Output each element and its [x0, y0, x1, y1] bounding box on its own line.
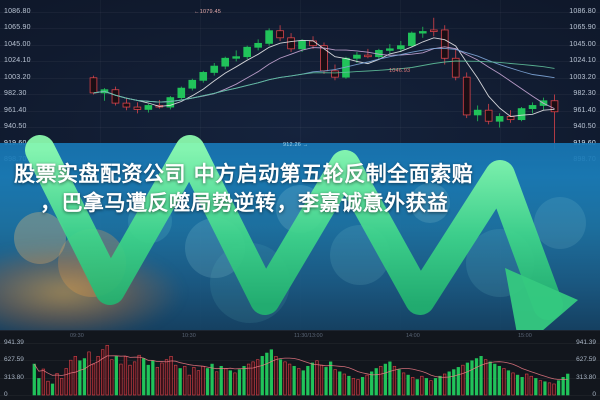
volume-bar: [566, 374, 569, 395]
volume-bar: [530, 376, 533, 395]
volume-bar: [211, 364, 214, 395]
volume-bar: [88, 352, 91, 395]
volume-bar: [247, 364, 250, 395]
volume-bar: [338, 372, 341, 395]
volume-bar: [110, 360, 113, 395]
volume-bar: [398, 370, 401, 395]
volume-bar: [316, 361, 319, 395]
volume-bar: [539, 381, 542, 395]
volume-bar: [229, 371, 232, 395]
volume-bar: [407, 375, 410, 395]
volume-bar: [288, 364, 291, 395]
volume-bar: [411, 377, 414, 395]
volume-bar: [434, 378, 437, 395]
volume-bar: [174, 365, 177, 395]
volume-bar: [352, 378, 355, 395]
volume-bar: [202, 366, 205, 395]
volume-bar: [101, 350, 104, 395]
headline-line-2: ，巴拿马遭反噬局势逆转，李嘉诚意外获益: [14, 189, 586, 218]
volume-bar: [261, 356, 264, 395]
volume-axis-tick-left: 0: [4, 391, 8, 398]
volume-bar: [220, 366, 223, 395]
volume-bar: [553, 384, 556, 395]
volume-bar: [138, 355, 141, 395]
volume-axis-tick-right: 941.39: [576, 339, 596, 346]
volume-bar: [343, 374, 346, 395]
volume-bar: [389, 362, 392, 395]
volume-bar: [302, 371, 305, 395]
volume-axis-tick-left: 313.80: [4, 374, 24, 381]
volume-bar: [457, 367, 460, 395]
volume-bar: [79, 361, 82, 395]
volume-bar: [462, 365, 465, 395]
volume-bar: [320, 365, 323, 395]
volume-bar: [142, 359, 145, 395]
volume-bar: [256, 360, 259, 395]
volume-bar: [60, 378, 63, 395]
volume-axis-tick-right: 0: [592, 391, 596, 398]
volume-bar: [106, 345, 109, 395]
volume-bar: [83, 359, 86, 395]
volume-bar: [188, 375, 191, 395]
volume-bar: [466, 363, 469, 395]
volume-bar: [270, 350, 273, 395]
volume-bar: [161, 363, 164, 395]
volume-bar: [348, 376, 351, 395]
volume-bar: [498, 366, 501, 395]
chart-banner: 1086.801065.901045.001024.101003.20982.3…: [0, 0, 600, 400]
volume-bar: [525, 374, 528, 395]
volume-bar: [215, 372, 218, 395]
volume-bar: [521, 377, 524, 395]
volume-bar: [384, 364, 387, 395]
volume-bar: [507, 371, 510, 395]
volume-bar: [439, 376, 442, 395]
volume-bar: [334, 370, 337, 395]
volume-bar: [311, 363, 314, 395]
volume-bar: [402, 373, 405, 395]
volume-bar: [420, 376, 423, 395]
volume-bar: [51, 384, 54, 395]
annotation-low: 912.26 →: [283, 142, 308, 148]
volume-bar: [503, 368, 506, 395]
volume-bar: [38, 378, 41, 395]
volume-bar: [265, 353, 268, 395]
volume-bar: [279, 360, 282, 395]
volume-moving-average: [34, 356, 567, 380]
volume-bar: [197, 371, 200, 395]
volume-axis-tick-left: 627.59: [4, 356, 24, 363]
volume-bar: [65, 368, 68, 395]
volume-bar: [47, 381, 50, 395]
volume-axis-tick-right: 627.59: [576, 356, 596, 363]
volume-panel: 09:3010:3011:30/13:0014:0015:00 941.3962…: [0, 330, 600, 400]
volume-bar: [56, 373, 59, 395]
volume-bar: [452, 370, 455, 395]
volume-bar: [115, 356, 118, 395]
volume-bar: [293, 366, 296, 395]
volume-bar: [275, 356, 278, 395]
volume-bar: [548, 383, 551, 395]
volume-bar: [129, 365, 132, 395]
volume-bar: [124, 356, 127, 395]
volume-bar: [416, 380, 419, 395]
volume-bar: [361, 377, 364, 395]
volume-bar: [252, 362, 255, 395]
volume-bar: [74, 356, 77, 395]
volume-bar: [238, 370, 241, 395]
volume-bar: [562, 377, 565, 395]
headline: 股票实盘配资公司 中方启动第五轮反制全面索赔 ，巴拿马遭反噬局势逆转，李嘉诚意外…: [0, 160, 600, 218]
volume-bar: [493, 364, 496, 395]
volume-bar: [484, 360, 487, 395]
volume-bars-svg: [0, 331, 600, 400]
volume-bar: [234, 373, 237, 395]
volume-bar: [183, 366, 186, 395]
headline-line-1: 股票实盘配资公司 中方启动第五轮反制全面索赔: [14, 160, 586, 189]
volume-bar: [147, 365, 150, 395]
volume-bar: [307, 366, 310, 395]
volume-bar: [544, 382, 547, 395]
volume-axis-tick-right: 313.80: [576, 374, 596, 381]
volume-bar: [557, 381, 560, 395]
volume-bar: [69, 360, 72, 395]
volume-bar: [170, 356, 173, 395]
volume-bar: [33, 364, 36, 395]
volume-bar: [151, 361, 154, 395]
volume-bar: [92, 364, 95, 395]
volume-bar: [448, 372, 451, 395]
volume-bar: [489, 362, 492, 395]
volume-bar: [156, 367, 159, 395]
volume-bar: [534, 378, 537, 395]
volume-bar: [325, 367, 328, 395]
volume-bar: [329, 362, 332, 395]
volume-bar: [193, 367, 196, 395]
volume-bar: [297, 368, 300, 395]
volume-axis-tick-left: 941.39: [4, 339, 24, 346]
volume-bar: [165, 360, 168, 395]
volume-bar: [512, 373, 515, 395]
volume-bar: [471, 361, 474, 395]
volume-bar: [379, 366, 382, 395]
volume-bar: [42, 369, 45, 395]
volume-bar: [120, 364, 123, 395]
volume-bar: [480, 356, 483, 395]
volume-bar: [366, 375, 369, 395]
volume-bar: [179, 368, 182, 395]
volume-bar: [224, 368, 227, 395]
volume-bar: [475, 359, 478, 395]
volume-bar: [357, 380, 360, 395]
volume-bar: [375, 368, 378, 395]
volume-bar: [133, 362, 136, 395]
volume-bar: [425, 378, 428, 395]
volume-bar: [284, 362, 287, 395]
volume-bar: [430, 381, 433, 395]
volume-bar: [243, 366, 246, 395]
volume-bar: [516, 375, 519, 395]
volume-bar: [206, 368, 209, 395]
